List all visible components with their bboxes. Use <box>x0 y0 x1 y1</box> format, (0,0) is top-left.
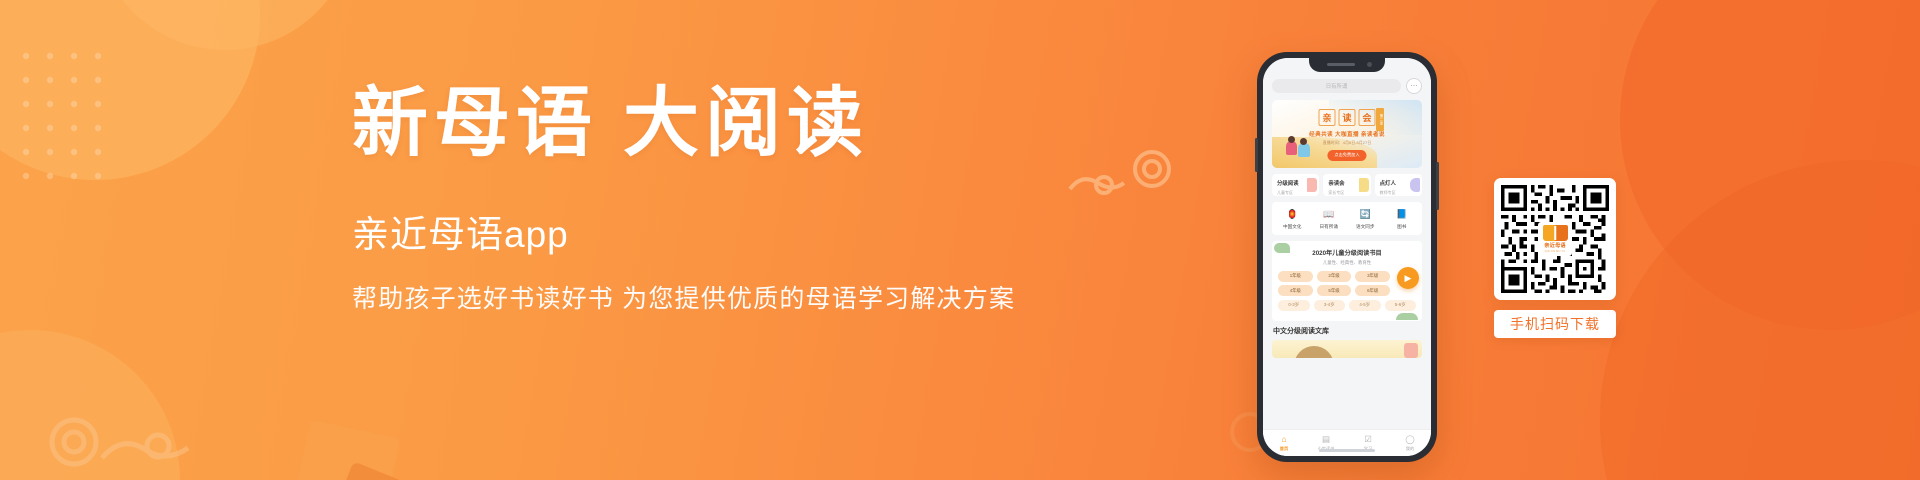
phone-speaker <box>1327 63 1355 66</box>
banner-title-char: 读 <box>1339 109 1356 126</box>
banner-title-char: 亲 <box>1319 109 1336 126</box>
tab-home[interactable]: ⌂ 首页 <box>1263 434 1305 453</box>
quick-icon-label: 语文同步 <box>1347 224 1384 230</box>
decorative-circle-top-left <box>0 0 260 180</box>
decorative-cube-2 <box>327 461 418 480</box>
book-list-icon: ▤ <box>1305 434 1347 445</box>
decorative-circle-right <box>1620 0 1920 330</box>
clipboard-icon: ☑ <box>1347 434 1389 445</box>
library-card[interactable] <box>1272 340 1422 358</box>
decorative-cube <box>291 419 400 480</box>
bookmark-icon <box>1307 178 1317 192</box>
phone-screen: 日有所诵 ⋯ 亲 读 会 第二季 经典共读 大咖直播 亲读者说 直播时间： <box>1263 58 1431 456</box>
hero-copy: 新母语 大阅读 亲近母语app 帮助孩子选好书读好书 为您提供优质的母语学习解决… <box>352 86 1032 312</box>
quick-icon-label: 日有所诵 <box>1311 224 1348 230</box>
profile-icon: ◯ <box>1389 434 1431 445</box>
decorative-circle-top-left-2 <box>95 0 355 50</box>
grade-chip[interactable]: 1年级 <box>1278 271 1313 282</box>
app-quick-icons: 🏮 中国文化 📖 日有所诵 🔄 语文同步 📘 图书 <box>1272 202 1422 235</box>
quick-icon-books[interactable]: 📘 图书 <box>1384 208 1421 230</box>
qr-logo-name-en: QIN JIN MU YU <box>1545 250 1566 253</box>
qr-code-card: 亲近母语 QIN JIN MU YU <box>1494 178 1616 300</box>
open-book-icon: 📖 <box>1322 208 1335 221</box>
category-card-reading-club[interactable]: 亲读会 家长专区 <box>1323 174 1370 196</box>
app-promo-banner[interactable]: 亲 读 会 第二季 经典共读 大咖直播 亲读者说 直播时间：4月6日-5月27日… <box>1272 100 1422 168</box>
phone-notch <box>1309 58 1385 72</box>
decorative-dot-grid <box>18 48 168 208</box>
grade-section-title: 2020年儿童分级阅读书目 <box>1278 248 1416 257</box>
more-horizontal-icon[interactable]: ⋯ <box>1406 78 1422 94</box>
bookmark-icon <box>1410 178 1420 192</box>
grade-chip[interactable]: 2年级 <box>1317 271 1352 282</box>
sync-icon: 🔄 <box>1359 208 1372 221</box>
banner-join-button[interactable]: 点击免费加入 <box>1327 150 1366 161</box>
app-home-screen: 日有所诵 ⋯ 亲 读 会 第二季 经典共读 大咖直播 亲读者说 直播时间： <box>1263 58 1431 456</box>
decorative-circle-bottom-left <box>0 330 180 480</box>
app-category-cards: 分级阅读 儿童专区 亲读会 家长专区 点灯人 教师专区 <box>1272 174 1422 196</box>
tab-profile[interactable]: ◯ 我的 <box>1389 434 1431 453</box>
age-chip-row: 0-3岁 3-4岁 4-5岁 5-6岁 <box>1278 300 1416 311</box>
decorative-cloud-ornament-right <box>1060 145 1180 205</box>
grade-chip[interactable]: 4年级 <box>1278 285 1313 296</box>
grade-row: 1年级 2年级 3年级 <box>1278 271 1390 282</box>
book-icon: 📘 <box>1395 208 1408 221</box>
leaf-decoration-icon <box>1396 313 1418 320</box>
banner-title-char: 会 <box>1359 109 1376 126</box>
grade-chip[interactable]: 3年级 <box>1355 271 1390 282</box>
category-card-lamplighter[interactable]: 点灯人 教师专区 <box>1375 174 1422 196</box>
app-name-text: 亲近母语app <box>352 216 1032 253</box>
qr-code-image: 亲近母语 QIN JIN MU YU <box>1501 185 1609 293</box>
decorative-circle-right-2 <box>1600 160 1920 480</box>
qr-logo-name-zh: 亲近母语 <box>1544 242 1566 249</box>
banner-title: 亲 读 会 <box>1319 109 1376 126</box>
quick-icon-chinese-culture[interactable]: 🏮 中国文化 <box>1274 208 1311 230</box>
grade-chip-rows: 1年级 2年级 3年级 4年级 5年级 6年级 <box>1278 271 1416 297</box>
age-chip[interactable]: 5-6岁 <box>1385 300 1417 311</box>
app-search-row: 日有所诵 ⋯ <box>1272 78 1422 94</box>
library-art-book <box>1404 343 1418 358</box>
grade-chip[interactable]: 5年级 <box>1317 285 1352 296</box>
lantern-icon: 🏮 <box>1286 208 1299 221</box>
promo-banner: 新母语 大阅读 亲近母语app 帮助孩子选好书读好书 为您提供优质的母语学习解决… <box>0 0 1920 480</box>
grade-section-subtitle: 儿童性、经典性、教育性 <box>1278 260 1416 266</box>
library-section-title: 中文分级阅读文库 <box>1273 326 1422 336</box>
quick-icon-chinese-sync[interactable]: 🔄 语文同步 <box>1347 208 1384 230</box>
banner-subtitle: 经典共读 大咖直播 亲读者说 <box>1309 130 1385 138</box>
app-grade-section: 2020年儿童分级阅读书目 儿童性、经典性、教育性 ▶ 1年级 2年级 3年级 … <box>1272 241 1422 321</box>
quick-icon-label: 中国文化 <box>1274 224 1311 230</box>
qr-center-logo: 亲近母语 QIN JIN MU YU <box>1538 222 1572 256</box>
search-input[interactable]: 日有所诵 <box>1272 79 1401 93</box>
banner-child-art-1 <box>1286 141 1297 155</box>
age-chip[interactable]: 4-5岁 <box>1349 300 1381 311</box>
age-chip[interactable]: 3-4岁 <box>1314 300 1346 311</box>
hero-tagline: 帮助孩子选好书读好书 为您提供优质的母语学习解决方案 <box>352 287 1032 312</box>
quick-icon-daily-recitation[interactable]: 📖 日有所诵 <box>1311 208 1348 230</box>
banner-season-seal: 第二季 <box>1376 108 1384 131</box>
page-title: 新母语 大阅读 <box>352 86 1032 162</box>
library-art-arc <box>1294 346 1334 358</box>
bookmark-icon <box>1359 178 1369 192</box>
category-card-graded-reading[interactable]: 分级阅读 儿童专区 <box>1272 174 1319 196</box>
phone-mockup: 日有所诵 ⋯ 亲 读 会 第二季 经典共读 大咖直播 亲读者说 直播时间： <box>1257 52 1437 462</box>
tab-label: 首页 <box>1263 446 1305 452</box>
home-icon: ⌂ <box>1263 434 1305 445</box>
age-chip[interactable]: 0-3岁 <box>1278 300 1310 311</box>
phone-home-indicator <box>1319 449 1375 452</box>
book-logo-icon <box>1543 225 1568 241</box>
decorative-cloud-ornament-bottom-left <box>40 396 210 476</box>
phone-camera-icon <box>1367 62 1372 67</box>
tab-label: 我的 <box>1389 446 1431 452</box>
banner-child-art-2 <box>1298 143 1310 157</box>
quick-icon-label: 图书 <box>1384 224 1421 230</box>
banner-date: 直播时间：4月6日-5月27日 <box>1323 140 1371 146</box>
download-button[interactable]: 手机扫码下载 <box>1494 310 1616 338</box>
grade-row: 4年级 5年级 6年级 <box>1278 285 1390 296</box>
grade-chip[interactable]: 6年级 <box>1355 285 1390 296</box>
